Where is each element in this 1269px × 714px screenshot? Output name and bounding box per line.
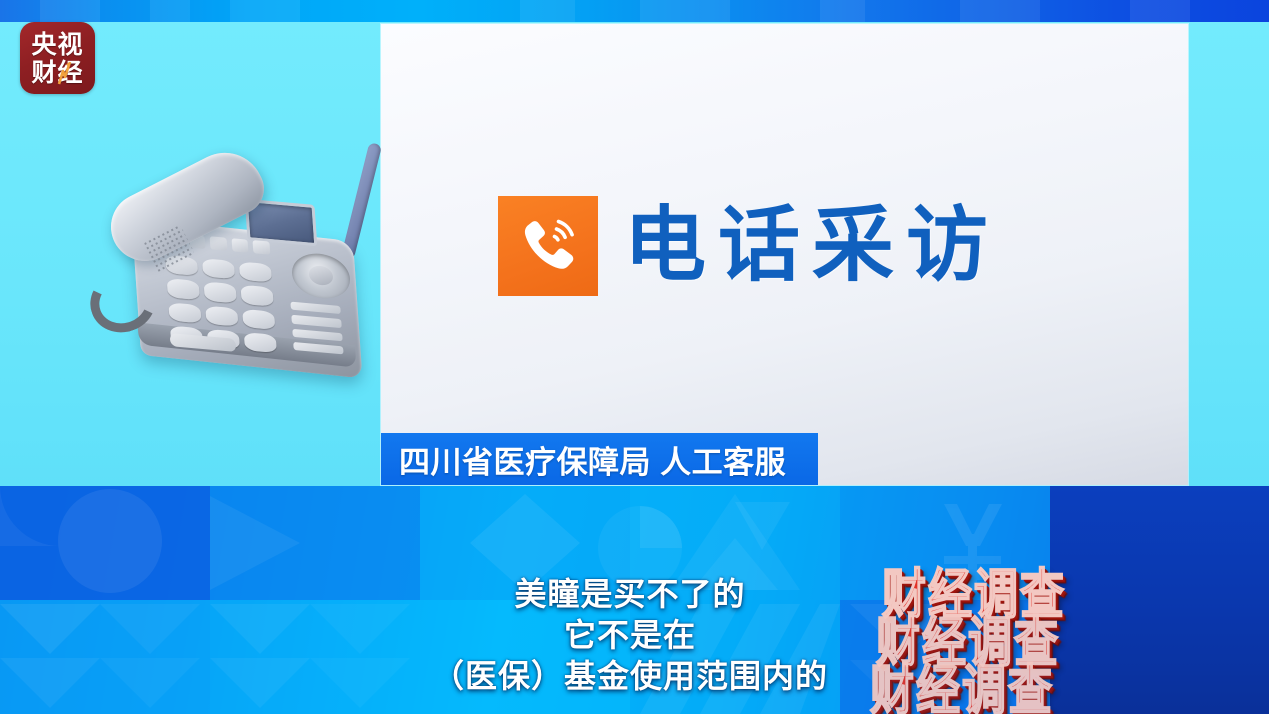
strip-block <box>520 0 575 22</box>
desk-telephone-photo <box>96 138 386 393</box>
program-logo-row: 财经调查 <box>870 662 1160 714</box>
program-logo: 财经调查 财经调查 财经调查 <box>870 566 1160 714</box>
subtitle-line-1: 美瞳是买不了的 <box>330 574 930 615</box>
strip-block <box>640 0 730 22</box>
strip-block <box>960 0 1040 22</box>
subtitle-block: 美瞳是买不了的 它不是在 （医保）基金使用范围内的 <box>330 574 930 697</box>
strip-block <box>40 0 100 22</box>
phone-side-keys <box>290 302 343 355</box>
strip-block <box>1130 0 1190 22</box>
subtitle-line-3: （医保）基金使用范围内的 <box>330 656 930 697</box>
headline-group: 电话采访 <box>498 196 1000 296</box>
strip-block <box>230 0 300 22</box>
logo-line-2: 财经 <box>20 58 95 88</box>
logo-line-1: 央视 <box>20 30 95 60</box>
phone-call-icon <box>498 196 598 296</box>
phone-call-glyph <box>514 212 582 280</box>
lower-third-banner: 四川省医疗保障局 人工客服 <box>381 433 818 485</box>
top-decorative-strip <box>0 0 1269 22</box>
phone-antenna <box>341 142 382 260</box>
strip-block <box>150 0 190 22</box>
cctv-finance-logo: 央视 财经 <box>20 22 95 94</box>
subtitle-line-2: 它不是在 <box>330 615 930 656</box>
lower-third-label: 四川省医疗保障局 人工客服 <box>399 437 786 482</box>
headline-title: 电话采访 <box>624 205 1000 287</box>
strip-block <box>820 0 865 22</box>
